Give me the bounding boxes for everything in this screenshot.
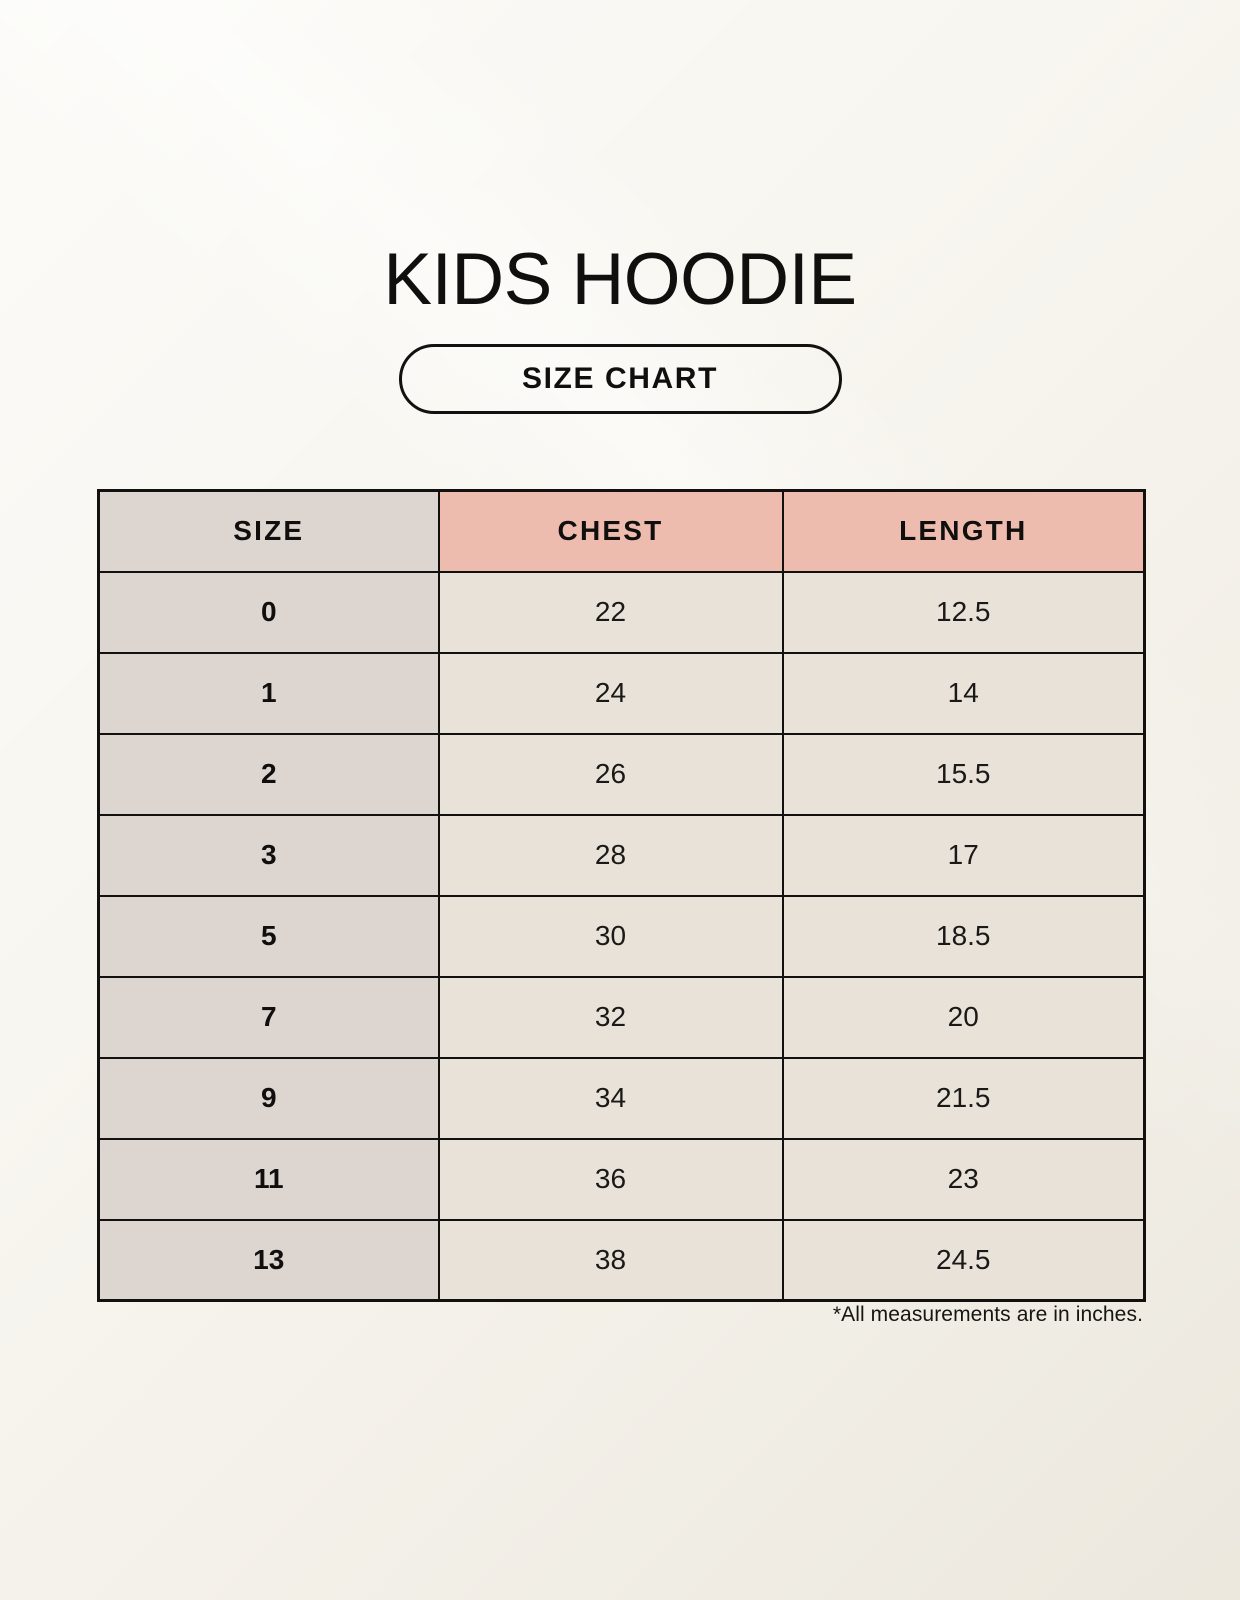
badge-container: SIZE CHART (0, 344, 1240, 414)
column-header-length: LENGTH (783, 491, 1145, 572)
header-block: KIDS HOODIE SIZE CHART (0, 243, 1240, 414)
table-row: 5 30 18.5 (99, 896, 1145, 977)
table-row: 2 26 15.5 (99, 734, 1145, 815)
table-row: 9 34 21.5 (99, 1058, 1145, 1139)
cell-chest: 22 (439, 572, 783, 653)
page-title: KIDS HOODIE (0, 243, 1240, 316)
table-row: 13 38 24.5 (99, 1220, 1145, 1301)
cell-length: 15.5 (783, 734, 1145, 815)
cell-chest: 30 (439, 896, 783, 977)
measurement-footnote: *All measurements are in inches. (97, 1303, 1143, 1327)
cell-length: 14 (783, 653, 1145, 734)
cell-chest: 32 (439, 977, 783, 1058)
table-header: SIZE CHEST LENGTH (99, 491, 1145, 572)
cell-size: 9 (99, 1058, 439, 1139)
cell-size: 7 (99, 977, 439, 1058)
cell-length: 20 (783, 977, 1145, 1058)
size-chart-page: KIDS HOODIE SIZE CHART SIZE CHEST LENGTH… (0, 0, 1240, 1600)
cell-chest: 34 (439, 1058, 783, 1139)
table-row: 11 36 23 (99, 1139, 1145, 1220)
cell-length: 12.5 (783, 572, 1145, 653)
column-header-size: SIZE (99, 491, 439, 572)
cell-chest: 24 (439, 653, 783, 734)
table-row: 7 32 20 (99, 977, 1145, 1058)
cell-length: 18.5 (783, 896, 1145, 977)
cell-chest: 28 (439, 815, 783, 896)
size-table-container: SIZE CHEST LENGTH 0 22 12.5 1 24 14 2 (97, 489, 1143, 1302)
cell-length: 24.5 (783, 1220, 1145, 1301)
table-row: 0 22 12.5 (99, 572, 1145, 653)
table-header-row: SIZE CHEST LENGTH (99, 491, 1145, 572)
cell-size: 3 (99, 815, 439, 896)
cell-size: 13 (99, 1220, 439, 1301)
cell-size: 0 (99, 572, 439, 653)
table-row: 1 24 14 (99, 653, 1145, 734)
cell-length: 21.5 (783, 1058, 1145, 1139)
size-chart-badge: SIZE CHART (399, 344, 842, 414)
cell-length: 17 (783, 815, 1145, 896)
cell-length: 23 (783, 1139, 1145, 1220)
cell-size: 2 (99, 734, 439, 815)
cell-chest: 38 (439, 1220, 783, 1301)
table-row: 3 28 17 (99, 815, 1145, 896)
cell-size: 11 (99, 1139, 439, 1220)
cell-size: 5 (99, 896, 439, 977)
cell-chest: 36 (439, 1139, 783, 1220)
column-header-chest: CHEST (439, 491, 783, 572)
table-body: 0 22 12.5 1 24 14 2 26 15.5 3 28 17 (99, 572, 1145, 1301)
cell-chest: 26 (439, 734, 783, 815)
cell-size: 1 (99, 653, 439, 734)
size-table: SIZE CHEST LENGTH 0 22 12.5 1 24 14 2 (97, 489, 1146, 1302)
